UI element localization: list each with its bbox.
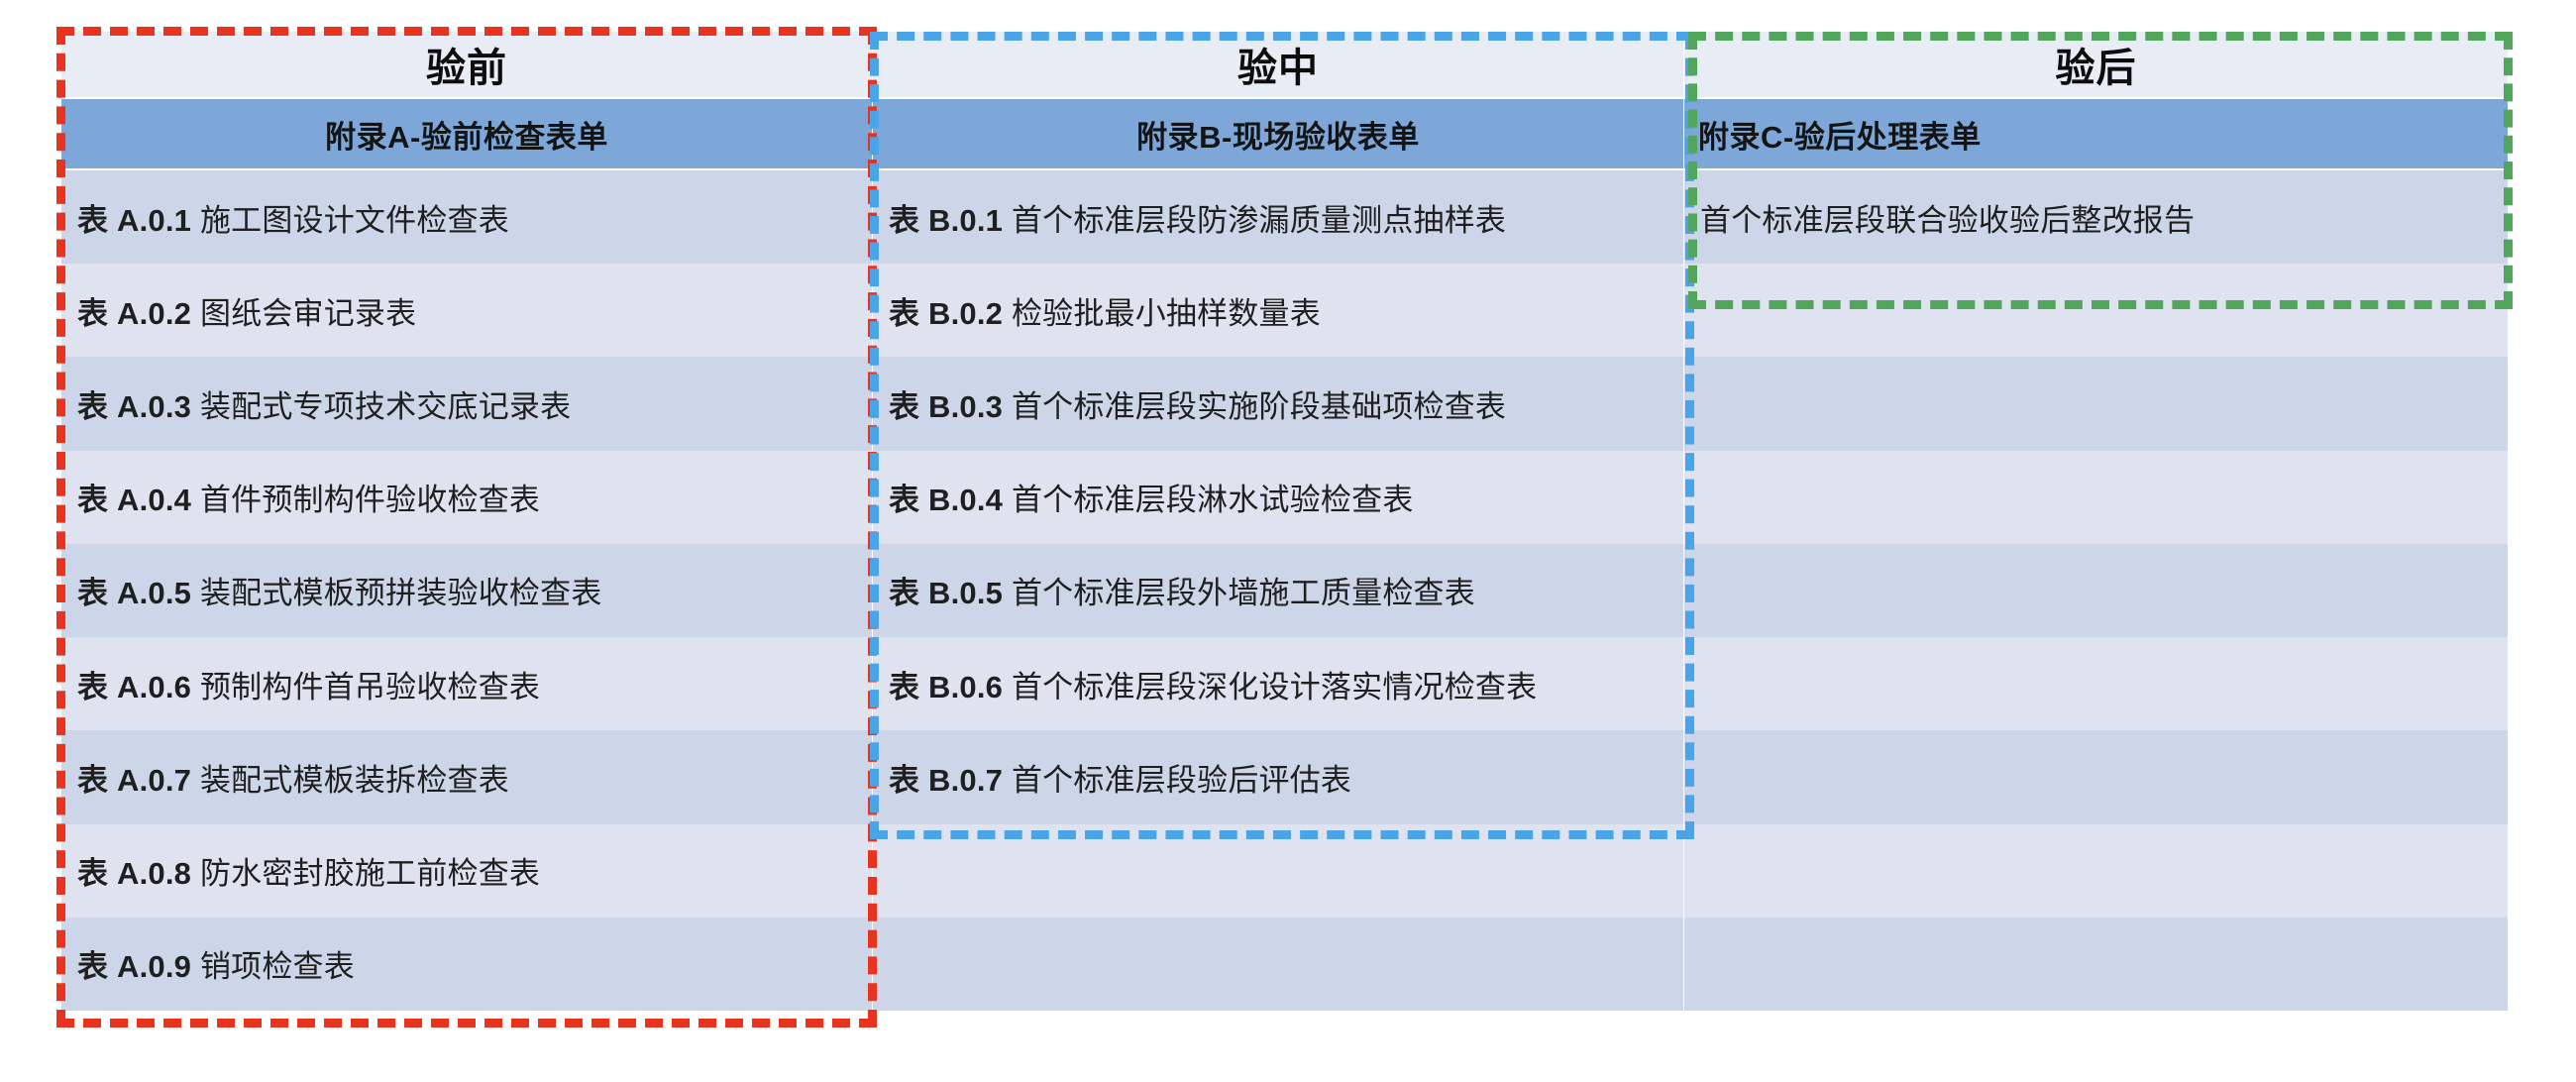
appendix-band-b-label: 附录B-现场验收表单 (1136, 112, 1420, 157)
form-name: 首个标准层段深化设计落实情况检查表 (1012, 662, 1537, 706)
form-code: 表 A.0.1 (77, 195, 191, 240)
forms-matrix-table: 验前 验中 验后 附录A-验前检查表单 附录B-现场验收表单 附录C-验后处理表… (61, 32, 2508, 1011)
form-code: 表 A.0.7 (77, 755, 191, 800)
form-code: 表 B.0.1 (889, 195, 1003, 240)
table-row[interactable]: 表 B.0.7 首个标准层段验后评估表 (873, 730, 1683, 823)
appendix-band-a: 附录A-验前检查表单 (61, 99, 872, 168)
form-code: 表 B.0.2 (889, 288, 1003, 333)
form-code: 表 A.0.9 (77, 941, 191, 986)
table-cell-empty (1684, 637, 2508, 730)
table-row[interactable]: 表 B.0.6 首个标准层段深化设计落实情况检查表 (873, 637, 1683, 730)
form-name: 销项检查表 (200, 941, 355, 986)
form-code: 表 A.0.5 (77, 568, 191, 612)
table-row[interactable]: 表 B.0.3 首个标准层段实施阶段基础项检查表 (873, 357, 1683, 450)
table-cell-empty (1684, 730, 2508, 823)
form-code: 表 A.0.2 (77, 288, 191, 333)
table-row[interactable]: 表 A.0.2 图纸会审记录表 (61, 264, 872, 357)
table-row[interactable]: 表 B.0.2 检验批最小抽样数量表 (873, 264, 1683, 357)
form-name: 首个标准层段验后评估表 (1012, 755, 1351, 800)
form-name: 图纸会审记录表 (200, 288, 416, 333)
table-row[interactable]: 表 A.0.1 施工图设计文件检查表 (61, 170, 872, 264)
table-row[interactable]: 首个标准层段联合验收验后整改报告 (1684, 170, 2508, 264)
table-cell-empty (1684, 451, 2508, 544)
form-code: 表 B.0.5 (889, 568, 1003, 612)
table-cell-empty (873, 918, 1683, 1011)
stage-title-post-label: 验后 (2056, 36, 2137, 93)
appendix-band-a-label: 附录A-验前检查表单 (325, 112, 608, 157)
form-code: 表 A.0.6 (77, 662, 191, 706)
form-code: 表 A.0.3 (77, 381, 191, 426)
stage-title-post: 验后 (1684, 32, 2508, 97)
table-row[interactable]: 表 A.0.7 装配式模板装拆检查表 (61, 730, 872, 823)
table-row[interactable]: 表 B.0.5 首个标准层段外墙施工质量检查表 (873, 544, 1683, 637)
table-cell-empty (1684, 357, 2508, 450)
form-name: 装配式专项技术交底记录表 (200, 381, 571, 426)
table-cell-empty (1684, 264, 2508, 357)
table-row[interactable]: 表 A.0.4 首件预制构件验收检查表 (61, 451, 872, 544)
form-code: 表 B.0.4 (889, 475, 1003, 519)
form-code: 表 B.0.7 (889, 755, 1003, 800)
stage-title-pre: 验前 (61, 32, 872, 97)
table-cell-empty (1684, 824, 2508, 918)
table-cell-empty (1684, 544, 2508, 637)
table-row[interactable]: 表 A.0.3 装配式专项技术交底记录表 (61, 357, 872, 450)
form-name: 装配式模板预拼装验收检查表 (200, 568, 602, 612)
table-row[interactable]: 表 B.0.4 首个标准层段淋水试验检查表 (873, 451, 1683, 544)
form-name: 装配式模板装拆检查表 (200, 755, 509, 800)
slide-canvas: 验前 验中 验后 附录A-验前检查表单 附录B-现场验收表单 附录C-验后处理表… (0, 0, 2576, 1082)
appendix-band-c-label: 附录C-验后处理表单 (1698, 112, 1982, 157)
form-code: 表 B.0.3 (889, 381, 1003, 426)
form-name: 首个标准层段联合验收验后整改报告 (1700, 195, 2195, 240)
form-name: 防水密封胶施工前检查表 (200, 848, 540, 893)
form-name: 首个标准层段外墙施工质量检查表 (1012, 568, 1475, 612)
form-name: 首个标准层段淋水试验检查表 (1012, 475, 1414, 519)
form-name: 首个标准层段防渗漏质量测点抽样表 (1012, 195, 1506, 240)
form-code: 表 A.0.8 (77, 848, 191, 893)
table-row[interactable]: 表 A.0.6 预制构件首吊验收检查表 (61, 637, 872, 730)
stage-title-pre-label: 验前 (426, 36, 507, 93)
table-row[interactable]: 表 A.0.5 装配式模板预拼装验收检查表 (61, 544, 872, 637)
form-code: 表 A.0.4 (77, 475, 191, 519)
stage-title-during: 验中 (873, 32, 1683, 97)
table-cell-empty (1684, 918, 2508, 1011)
table-row[interactable]: 表 A.0.9 销项检查表 (61, 918, 872, 1011)
form-code: 表 B.0.6 (889, 662, 1003, 706)
table-row[interactable]: 表 A.0.8 防水密封胶施工前检查表 (61, 824, 872, 918)
appendix-band-c: 附录C-验后处理表单 (1684, 99, 2508, 168)
appendix-band-b: 附录B-现场验收表单 (873, 99, 1683, 168)
form-name: 预制构件首吊验收检查表 (200, 662, 540, 706)
form-name: 施工图设计文件检查表 (200, 195, 509, 240)
form-name: 首件预制构件验收检查表 (200, 475, 540, 519)
table-row[interactable]: 表 B.0.1 首个标准层段防渗漏质量测点抽样表 (873, 170, 1683, 264)
form-name: 首个标准层段实施阶段基础项检查表 (1012, 381, 1506, 426)
stage-title-during-label: 验中 (1237, 36, 1319, 93)
table-cell-empty (873, 824, 1683, 918)
form-name: 检验批最小抽样数量表 (1012, 288, 1321, 333)
